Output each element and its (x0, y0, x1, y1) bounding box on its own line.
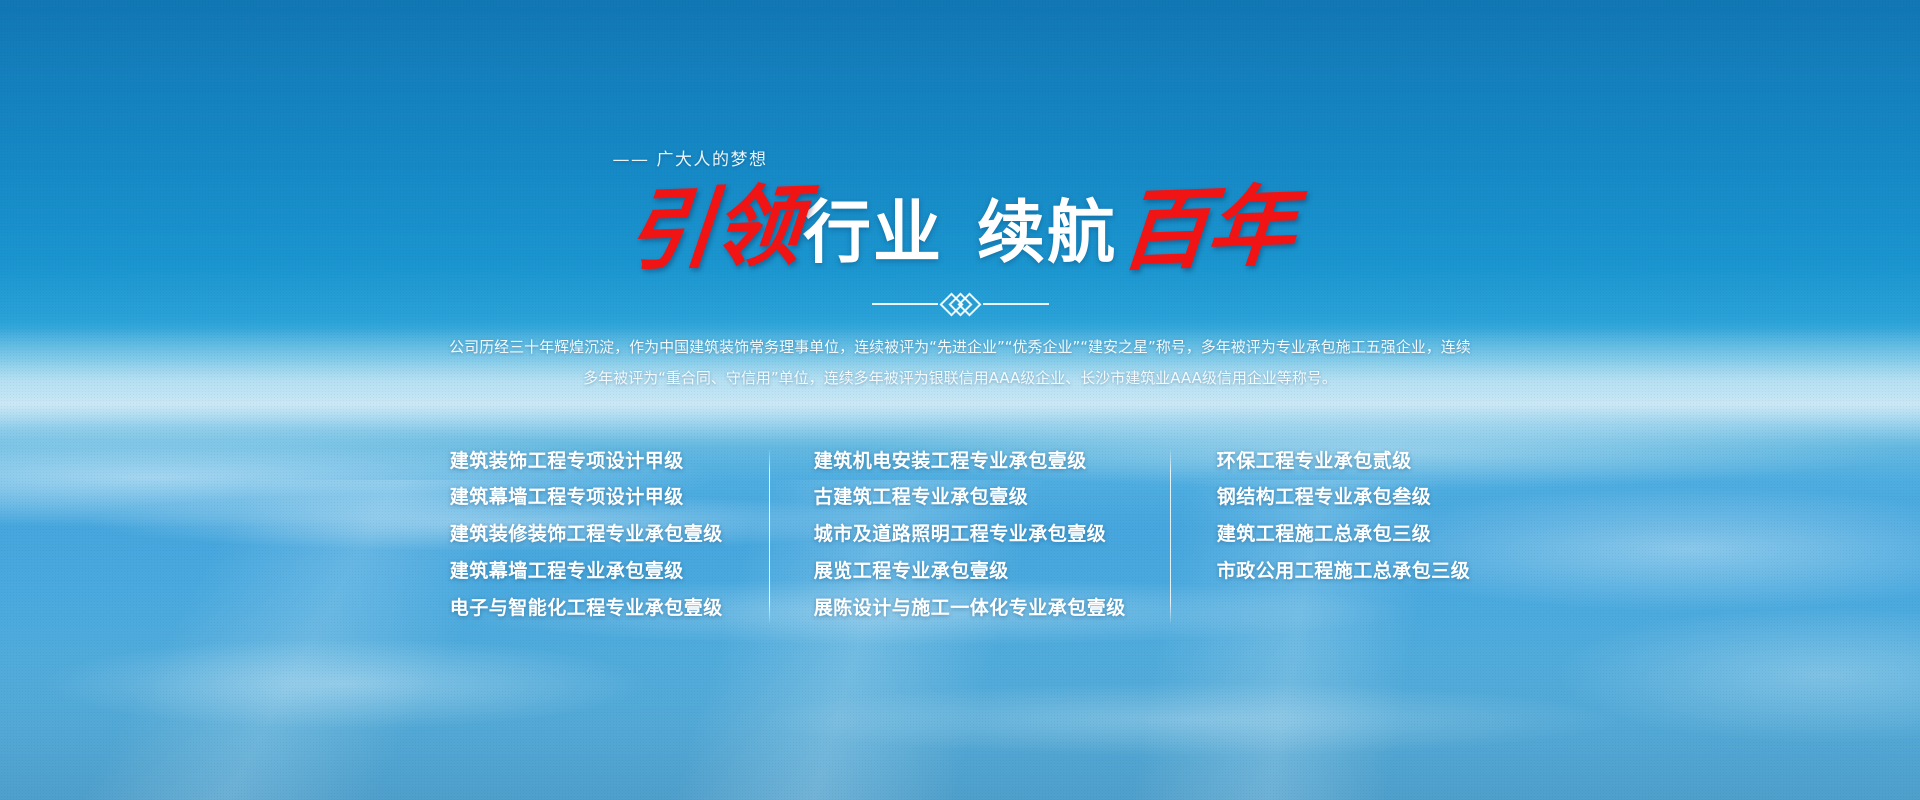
qualification-item: 展陈设计与施工一体化专业承包壹级 (814, 593, 1126, 624)
qualification-item: 建筑装饰工程专项设计甲级 (450, 446, 723, 477)
qualifications-column-1: 建筑装饰工程专项设计甲级 建筑幕墙工程专项设计甲级 建筑装修装饰工程专业承包壹级… (450, 446, 769, 624)
qualification-item: 建筑幕墙工程专业承包壹级 (450, 556, 723, 587)
qualification-item: 建筑装修装饰工程专业承包壹级 (450, 519, 723, 550)
diamond-divider-icon (872, 294, 1049, 314)
qualification-item: 展览工程专业承包壹级 (814, 556, 1126, 587)
company-description-line-2: 多年被评为“重合同、守信用”单位，连续多年被评为银联信用AAA级企业、长沙市建筑… (410, 363, 1510, 394)
headline-white-endurance: 续航 (977, 200, 1117, 272)
company-description-line-1: 公司历经三十年辉煌沉淀，作为中国建筑装饰常务理事单位，连续被评为“先进企业”“优… (410, 332, 1510, 363)
qualification-item: 古建筑工程专业承包壹级 (814, 482, 1126, 513)
divider-diamonds (947, 296, 974, 313)
qualification-item: 钢结构工程专业承包叁级 (1217, 482, 1471, 513)
banner-tagline: —— 广大人的梦想 (613, 145, 768, 170)
qualification-item: 城市及道路照明工程专业承包壹级 (814, 519, 1126, 550)
divider-bar-left (872, 303, 938, 305)
divider-bar-right (983, 303, 1049, 305)
qualifications-column-3: 环保工程专业承包贰级 钢结构工程专业承包叁级 建筑工程施工总承包三级 市政公用工… (1171, 446, 1471, 587)
qualification-item: 建筑机电安装工程专业承包壹级 (814, 446, 1126, 477)
qualification-item: 环保工程专业承包贰级 (1217, 446, 1471, 477)
headline-red-century: 百年 (1113, 181, 1301, 275)
qualification-item: 电子与智能化工程专业承包壹级 (450, 593, 723, 624)
qualifications-column-2: 建筑机电安装工程专业承包壹级 古建筑工程专业承包壹级 城市及道路照明工程专业承包… (770, 446, 1170, 624)
banner-content: —— 广大人的梦想 引领 行业 续航 百年 公司历经三十年辉煌沉淀，作为中国建筑… (0, 0, 1920, 800)
qualifications-list: 建筑装饰工程专项设计甲级 建筑幕墙工程专项设计甲级 建筑装修装饰工程专业承包壹级… (450, 446, 1471, 624)
headline-white-industry: 行业 (803, 200, 943, 272)
qualification-item: 建筑工程施工总承包三级 (1217, 519, 1471, 550)
qualification-item: 建筑幕墙工程专项设计甲级 (450, 482, 723, 513)
headline-red-lead: 引领 (619, 181, 807, 275)
qualification-item: 市政公用工程施工总承包三级 (1217, 556, 1471, 587)
banner-headline: 引领 行业 续航 百年 (623, 184, 1297, 272)
hero-banner: —— 广大人的梦想 引领 行业 续航 百年 公司历经三十年辉煌沉淀，作为中国建筑… (0, 0, 1920, 800)
company-description: 公司历经三十年辉煌沉淀，作为中国建筑装饰常务理事单位，连续被评为“先进企业”“优… (410, 332, 1510, 394)
